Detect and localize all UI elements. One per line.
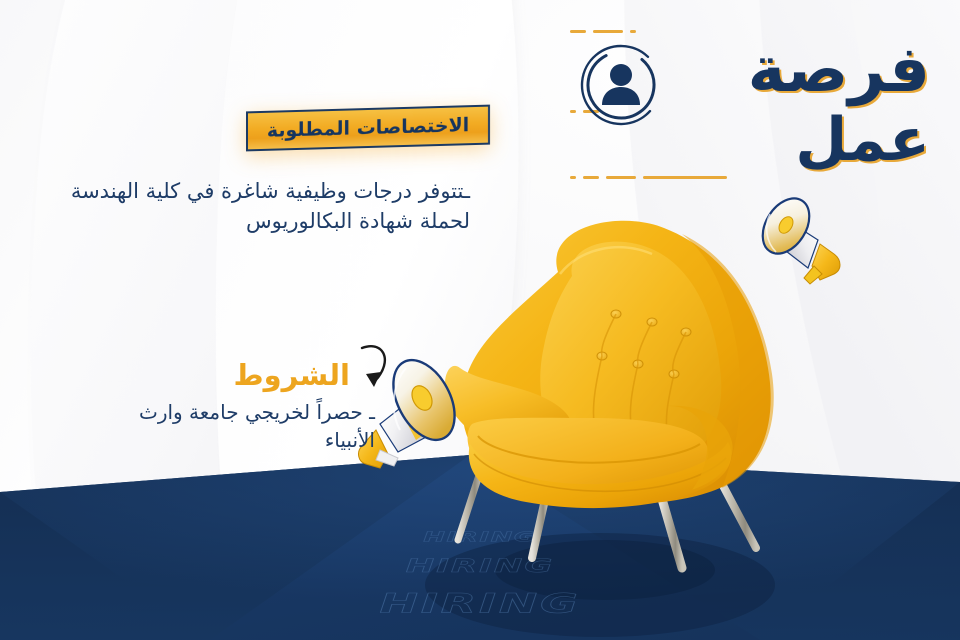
headline-line-1: فرصة: [570, 38, 930, 102]
specializations-body-text: ـتتوفر درجات وظيفية شاغرة في كلية الهندس…: [70, 176, 470, 237]
megaphone-right: [748, 182, 868, 302]
headline-line-2: عمل: [570, 110, 930, 170]
conditions-title: الشروط: [233, 358, 350, 392]
curved-arrow-icon: [352, 340, 398, 394]
dash: [593, 30, 623, 33]
headline-word-work: عمل: [795, 110, 930, 170]
conditions-body-text: ـ حصراً لخريجي جامعة وارث الأنبياء: [115, 398, 375, 454]
dash: [570, 30, 586, 33]
specializations-banner-label: الاختصاصات المطلوبة: [267, 114, 469, 142]
headline-word-opportunity: فرصة: [748, 38, 930, 102]
dash: [643, 176, 727, 179]
job-opportunity-poster: HIRING HIRING HIRING HIRING: [0, 0, 960, 640]
headline-block: فرصة عمل: [570, 26, 930, 182]
dash: [583, 176, 599, 179]
dash: [606, 176, 636, 179]
hiring-watermark-row: HIRING: [380, 588, 581, 619]
dash: [630, 30, 636, 33]
hiring-watermark-row: HIRING: [345, 636, 616, 640]
specializations-banner: الاختصاصات المطلوبة: [246, 105, 490, 152]
dash: [570, 176, 576, 179]
